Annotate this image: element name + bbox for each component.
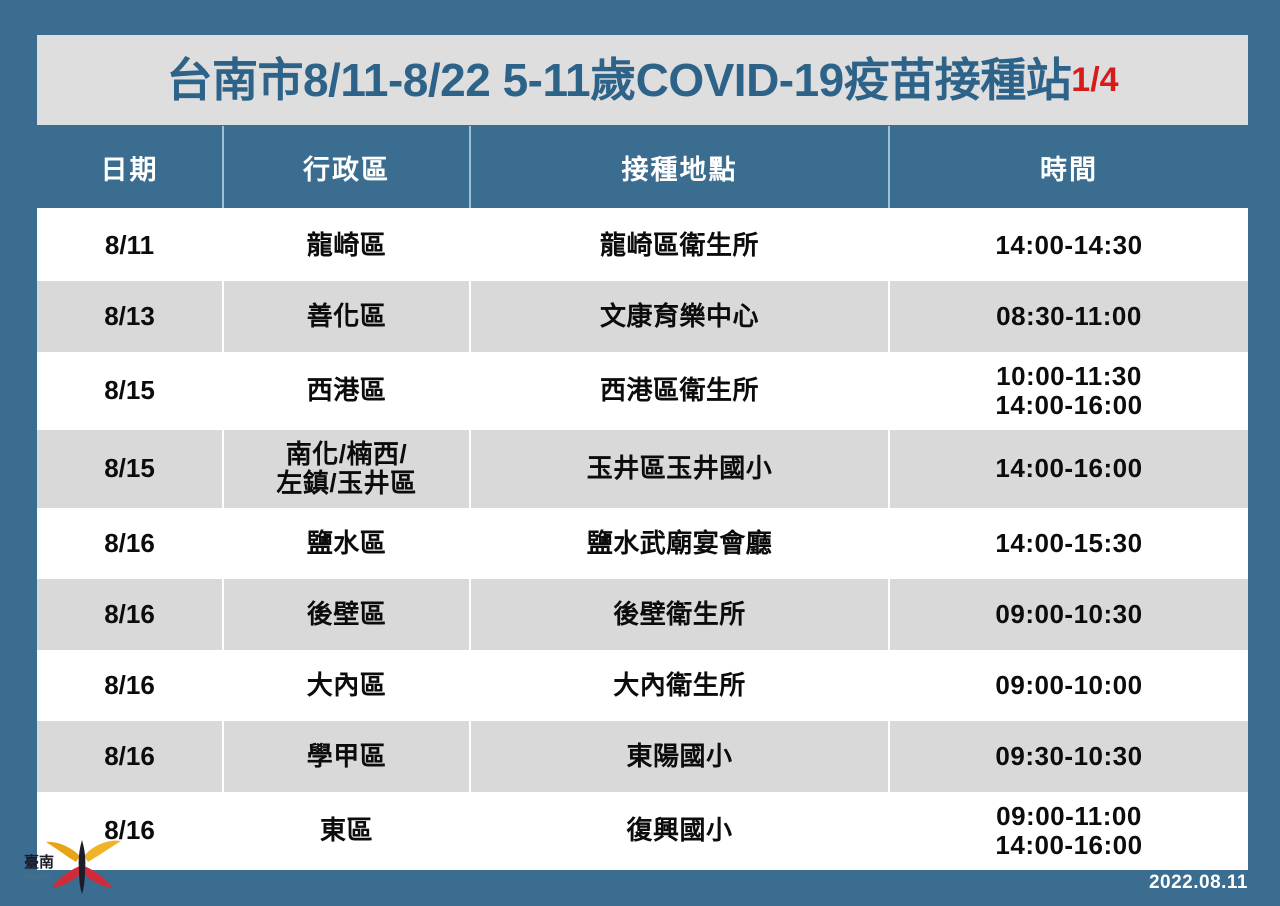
cell-date: 8/15 [37,430,223,508]
page-title: 台南市8/11-8/22 5-11歲COVID-19疫苗接種站 [166,57,1071,103]
cell-date-line: 8/15 [41,376,218,405]
cell-time-line: 14:00-15:30 [894,529,1244,558]
cell-date: 8/16 [37,650,223,721]
cell-site-line: 龍崎區衛生所 [475,231,884,260]
table-body: 8/11龍崎區龍崎區衛生所14:00-14:308/13善化區文康育樂中心08:… [37,209,1248,870]
cell-time: 14:00-14:30 [889,209,1248,281]
cell-date: 8/16 [37,579,223,650]
cell-date-line: 8/16 [41,671,218,700]
cell-site: 西港區衛生所 [470,352,889,430]
table-row: 8/13善化區文康育樂中心08:30-11:00 [37,281,1248,352]
cell-district-line: 左鎮/玉井區 [228,469,465,498]
cell-time-line: 09:00-10:00 [894,671,1244,700]
cell-site-line: 大內衛生所 [475,671,884,700]
cell-time-line: 10:00-11:30 [894,362,1244,391]
cell-time-line: 14:00-16:00 [894,454,1244,483]
cell-site-line: 玉井區玉井國小 [475,454,884,483]
cell-date-line: 8/16 [41,742,218,771]
cell-time: 14:00-15:30 [889,508,1248,579]
cell-site-line: 復興國小 [475,816,884,845]
cell-district: 善化區 [223,281,470,352]
phoenix-logo-icon: 臺南 TAINAN [22,836,142,896]
cell-time-line: 09:00-11:00 [894,802,1244,831]
table-header: 日期 行政區 接種地點 時間 [37,126,1248,209]
cell-site-line: 鹽水武廟宴會廳 [475,529,884,558]
cell-date: 8/16 [37,508,223,579]
cell-date: 8/11 [37,209,223,281]
cell-time: 14:00-16:00 [889,430,1248,508]
page-counter: 1/4 [1071,63,1118,97]
cell-time: 09:30-10:30 [889,721,1248,792]
table-header-row: 日期 行政區 接種地點 時間 [37,126,1248,209]
tainan-city-logo: 臺南 TAINAN [22,836,142,896]
cell-site: 東陽國小 [470,721,889,792]
cell-district-line: 鹽水區 [228,529,465,558]
column-header-date: 日期 [37,126,223,209]
cell-time: 09:00-10:30 [889,579,1248,650]
table-row: 8/16東區復興國小09:00-11:0014:00-16:00 [37,792,1248,870]
cell-district-line: 善化區 [228,302,465,331]
cell-time: 09:00-11:0014:00-16:00 [889,792,1248,870]
cell-district-line: 大內區 [228,671,465,700]
logo-text: 臺南 [24,853,54,871]
cell-site-line: 西港區衛生所 [475,376,884,405]
column-header-time: 時間 [889,126,1248,209]
cell-time-line: 14:00-14:30 [894,231,1244,260]
cell-district: 學甲區 [223,721,470,792]
cell-site: 玉井區玉井國小 [470,430,889,508]
table-row: 8/15西港區西港區衛生所10:00-11:3014:00-16:00 [37,352,1248,430]
cell-date: 8/16 [37,721,223,792]
cell-site-line: 後壁衛生所 [475,600,884,629]
table-row: 8/15南化/楠西/左鎮/玉井區玉井區玉井國小14:00-16:00 [37,430,1248,508]
cell-date: 8/15 [37,352,223,430]
cell-district-line: 南化/楠西/ [228,440,465,469]
cell-site-line: 文康育樂中心 [475,302,884,331]
cell-site-line: 東陽國小 [475,742,884,771]
cell-time-line: 08:30-11:00 [894,302,1244,331]
table-row: 8/16後壁區後壁衛生所09:00-10:30 [37,579,1248,650]
cell-site: 文康育樂中心 [470,281,889,352]
cell-time: 09:00-10:00 [889,650,1248,721]
cell-date-line: 8/11 [41,231,218,260]
title-banner: 台南市8/11-8/22 5-11歲COVID-19疫苗接種站1/4 [37,35,1248,125]
svg-text:TAINAN: TAINAN [24,875,52,881]
cell-time-line: 14:00-16:00 [894,391,1244,420]
cell-district-line: 學甲區 [228,742,465,771]
cell-date-line: 8/16 [41,529,218,558]
cell-date-line: 8/13 [41,302,218,331]
cell-time-line: 14:00-16:00 [894,831,1244,860]
cell-district: 鹽水區 [223,508,470,579]
cell-time-line: 09:30-10:30 [894,742,1244,771]
cell-date-line: 8/16 [41,600,218,629]
cell-district: 後壁區 [223,579,470,650]
cell-district: 南化/楠西/左鎮/玉井區 [223,430,470,508]
cell-district-line: 後壁區 [228,600,465,629]
table-row: 8/11龍崎區龍崎區衛生所14:00-14:30 [37,209,1248,281]
column-header-district: 行政區 [223,126,470,209]
cell-district-line: 東區 [228,816,465,845]
cell-site: 後壁衛生所 [470,579,889,650]
vaccination-schedule-table: 日期 行政區 接種地點 時間 8/11龍崎區龍崎區衛生所14:00-14:308… [37,126,1248,870]
table-row: 8/16大內區大內衛生所09:00-10:00 [37,650,1248,721]
cell-time: 10:00-11:3014:00-16:00 [889,352,1248,430]
cell-site: 鹽水武廟宴會廳 [470,508,889,579]
cell-district: 龍崎區 [223,209,470,281]
cell-district-line: 西港區 [228,376,465,405]
cell-site: 龍崎區衛生所 [470,209,889,281]
column-header-site: 接種地點 [470,126,889,209]
cell-site: 大內衛生所 [470,650,889,721]
cell-district-line: 龍崎區 [228,231,465,260]
cell-time-line: 09:00-10:30 [894,600,1244,629]
cell-site: 復興國小 [470,792,889,870]
cell-district: 東區 [223,792,470,870]
poster-root: 台南市8/11-8/22 5-11歲COVID-19疫苗接種站1/4 日期 行政… [0,0,1280,906]
cell-district: 大內區 [223,650,470,721]
cell-date-line: 8/15 [41,454,218,483]
cell-date: 8/13 [37,281,223,352]
table-row: 8/16學甲區東陽國小09:30-10:30 [37,721,1248,792]
cell-district: 西港區 [223,352,470,430]
footer-date: 2022.08.11 [1149,872,1248,894]
cell-time: 08:30-11:00 [889,281,1248,352]
table-row: 8/16鹽水區鹽水武廟宴會廳14:00-15:30 [37,508,1248,579]
